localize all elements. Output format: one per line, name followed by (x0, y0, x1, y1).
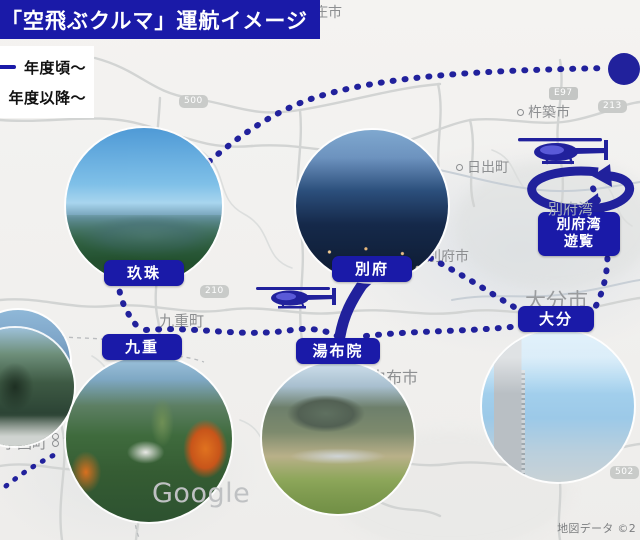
legend-swatch-solid (0, 65, 16, 69)
photo-bubble-partial-left[interactable] (0, 328, 74, 446)
node-label-kusu[interactable]: 玖珠 (104, 260, 184, 286)
node-label-oita[interactable]: 大分 (518, 306, 594, 332)
node-label-beppu[interactable]: 別府 (332, 256, 412, 282)
legend-label-phase1: 年度頃～ (24, 57, 86, 78)
node-label-kokonoe[interactable]: 九重 (102, 334, 182, 360)
map-attribution: 地図データ ©2 (557, 520, 636, 536)
google-watermark: Google (152, 478, 250, 509)
legend-item-phase1: 年度頃～ (0, 57, 86, 78)
title-bar: ける「空飛ぶクルマ」運航イメージ (0, 0, 320, 39)
evtol-helicopter-icon-inland (252, 278, 342, 312)
legend-label-phase2: 年度以降～ (8, 87, 86, 108)
tour-label-line1: 別府湾 (557, 217, 602, 234)
page-title: ける「空飛ぶクルマ」運航イメージ (0, 5, 308, 35)
photo-bubble-yufuin[interactable] (262, 362, 414, 514)
node-label-yufuin[interactable]: 湯布院 (296, 338, 380, 364)
route-node-northeast (608, 53, 640, 85)
tour-label-line2: 遊覧 (564, 234, 594, 251)
flying-car-route-map: 500 E97 213 210 502 杵築市 日出町 別府市 九重町 由布市 … (0, 0, 640, 540)
photo-bubble-oita[interactable] (482, 330, 634, 482)
legend-item-phase2: 年度以降～ (0, 87, 86, 108)
place-label-beppu-bay: 別府湾 (548, 198, 593, 219)
legend-box: 年度頃～ 年度以降～ (0, 46, 94, 118)
